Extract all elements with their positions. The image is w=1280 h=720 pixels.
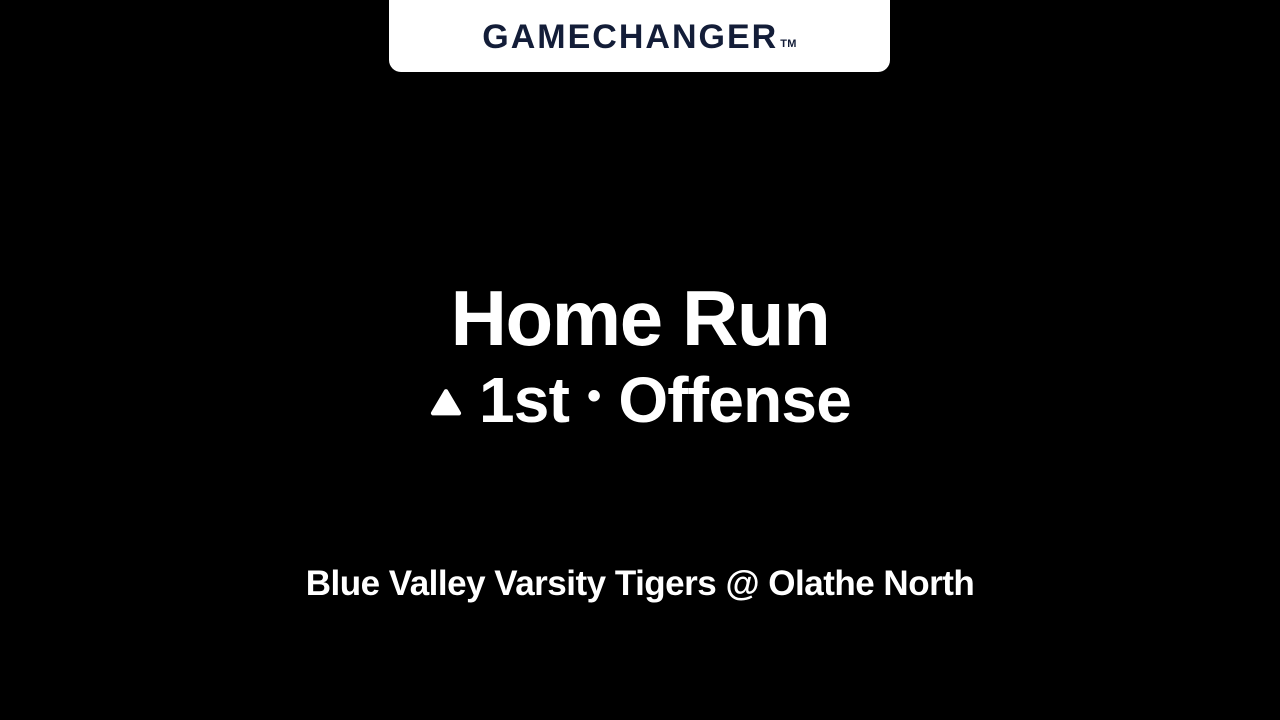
inning-label: 1st [479, 368, 569, 432]
triangle-up-icon [429, 387, 463, 417]
play-detail-line: 1st • Offense [0, 368, 1280, 432]
play-summary: Home Run 1st • Offense Blue Valley Varsi… [0, 0, 1280, 720]
play-title: Home Run [0, 279, 1280, 357]
play-notification-screen: GAMECHANGER TM Home Run 1st • Offense Bl… [0, 0, 1280, 720]
detail-separator: • [587, 376, 600, 416]
matchup-caption: Blue Valley Varsity Tigers @ Olathe Nort… [0, 566, 1280, 601]
offense-defense-label: Offense [618, 368, 851, 432]
